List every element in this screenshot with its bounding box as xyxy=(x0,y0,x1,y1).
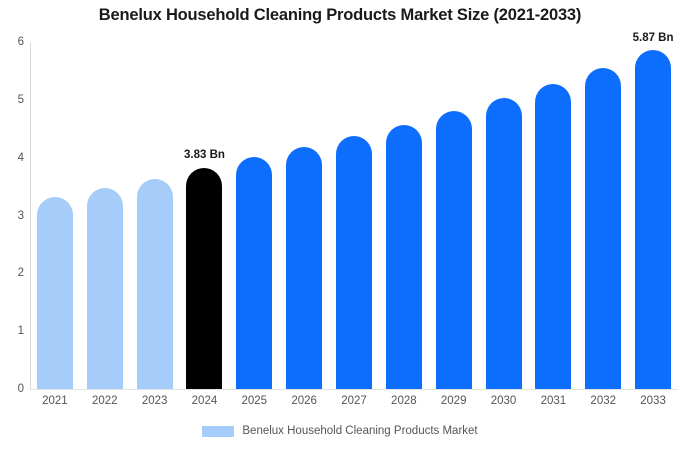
chart-legend[interactable]: Benelux Household Cleaning Products Mark… xyxy=(0,425,680,437)
bar-2021[interactable] xyxy=(37,197,73,389)
bar-slot xyxy=(379,42,429,389)
bar-series xyxy=(30,42,678,389)
bar-2030[interactable] xyxy=(486,98,522,389)
chart-title: Benelux Household Cleaning Products Mark… xyxy=(0,6,680,25)
x-axis-line xyxy=(30,389,678,390)
y-tick-label: 4 xyxy=(0,152,24,164)
bar-slot xyxy=(30,42,80,389)
bar-slot xyxy=(628,42,678,389)
bar-2025[interactable] xyxy=(236,157,272,389)
bar-2023[interactable] xyxy=(137,179,173,390)
bar-slot xyxy=(229,42,279,389)
bar-2032[interactable] xyxy=(585,68,621,389)
x-tick-label-2032: 2032 xyxy=(578,395,628,407)
legend-swatch-icon xyxy=(202,426,234,437)
x-tick-label-2025: 2025 xyxy=(229,395,279,407)
y-tick-label: 3 xyxy=(0,210,24,222)
bar-slot xyxy=(130,42,180,389)
bar-slot xyxy=(429,42,479,389)
x-tick-label-2026: 2026 xyxy=(279,395,329,407)
bar-slot xyxy=(180,42,230,389)
x-tick-label-2033: 2033 xyxy=(628,395,678,407)
x-tick-label-2027: 2027 xyxy=(329,395,379,407)
bar-slot xyxy=(279,42,329,389)
x-tick-label-2028: 2028 xyxy=(379,395,429,407)
x-tick-label-2031: 2031 xyxy=(528,395,578,407)
y-tick-label: 2 xyxy=(0,267,24,279)
x-tick-label-2021: 2021 xyxy=(30,395,80,407)
bar-2033[interactable] xyxy=(635,50,671,389)
y-tick-label: 6 xyxy=(0,36,24,48)
y-tick-label: 5 xyxy=(0,94,24,106)
x-axis-tick-labels: 2021202220232024202520262027202820292030… xyxy=(30,392,678,414)
bar-slot xyxy=(578,42,628,389)
x-tick-label-2029: 2029 xyxy=(429,395,479,407)
bar-slot xyxy=(479,42,529,389)
bar-slot xyxy=(80,42,130,389)
chart-container: Benelux Household Cleaning Products Mark… xyxy=(0,0,680,450)
y-tick-label: 1 xyxy=(0,325,24,337)
x-tick-label-2022: 2022 xyxy=(80,395,130,407)
y-tick-label: 0 xyxy=(0,383,24,395)
x-tick-label-2030: 2030 xyxy=(479,395,529,407)
bar-2027[interactable] xyxy=(336,136,372,389)
x-tick-label-2024: 2024 xyxy=(180,395,230,407)
x-tick-label-2023: 2023 xyxy=(130,395,180,407)
bar-value-label-2024: 3.83 Bn xyxy=(184,149,225,161)
bar-2022[interactable] xyxy=(87,188,123,389)
bar-slot xyxy=(528,42,578,389)
bar-2029[interactable] xyxy=(436,111,472,389)
legend-item-label: Benelux Household Cleaning Products Mark… xyxy=(242,425,477,437)
bar-2028[interactable] xyxy=(386,125,422,389)
bar-2026[interactable] xyxy=(286,147,322,389)
bar-2031[interactable] xyxy=(535,84,571,389)
bar-2024[interactable] xyxy=(186,168,222,390)
bar-slot xyxy=(329,42,379,389)
bar-value-label-2033: 5.87 Bn xyxy=(633,32,674,44)
